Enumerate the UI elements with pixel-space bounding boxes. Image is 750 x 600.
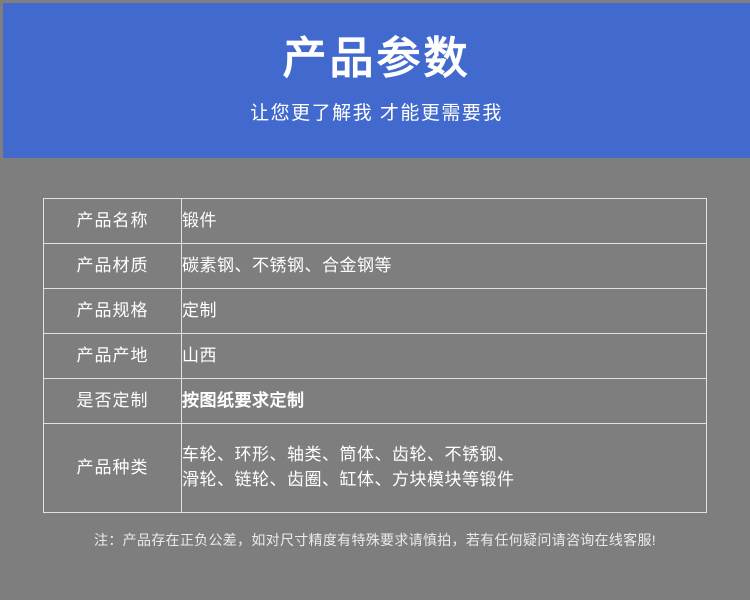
- spec-value-product-types: 车轮、环形、轴类、筒体、齿轮、不锈钢、 滑轮、链轮、齿圈、缸体、方块模块等锻件: [182, 424, 707, 513]
- table-row: 产品种类 车轮、环形、轴类、筒体、齿轮、不锈钢、 滑轮、链轮、齿圈、缸体、方块模…: [44, 424, 707, 513]
- page-title: 产品参数: [283, 35, 471, 83]
- spec-label-customizable: 是否定制: [44, 379, 182, 424]
- table-row: 是否定制 按图纸要求定制: [44, 379, 707, 424]
- spec-label-product-spec: 产品规格: [44, 289, 182, 334]
- value-line: 山西: [182, 344, 706, 369]
- value-line: 车轮、环形、轴类、筒体、齿轮、不锈钢、: [182, 443, 706, 468]
- spec-value-product-origin: 山西: [182, 334, 707, 379]
- footer-note: 注：产品存在正负公差，如对尺寸精度有特殊要求请慎拍，若有任何疑问请咨询在线客服!: [0, 531, 750, 551]
- spec-label-product-name: 产品名称: [44, 199, 182, 244]
- value-line: 定制: [182, 299, 706, 324]
- spec-label-product-origin: 产品产地: [44, 334, 182, 379]
- spec-table-body: 产品名称 锻件 产品材质 碳素钢、不锈钢、合金钢等 产品规格 定制: [44, 199, 707, 513]
- product-parameters-page: 产品参数 让您更了解我 才能更需要我 产品名称 锻件 产品材质 碳素钢、不锈钢、…: [0, 0, 750, 600]
- page-subtitle: 让您更了解我 才能更需要我: [250, 103, 503, 126]
- spec-value-product-name: 锻件: [182, 199, 707, 244]
- spec-table: 产品名称 锻件 产品材质 碳素钢、不锈钢、合金钢等 产品规格 定制: [43, 198, 707, 513]
- spec-label-product-material: 产品材质: [44, 244, 182, 289]
- spec-value-product-material: 碳素钢、不锈钢、合金钢等: [182, 244, 707, 289]
- table-row: 产品产地 山西: [44, 334, 707, 379]
- spec-value-customizable: 按图纸要求定制: [182, 379, 707, 424]
- spec-value-product-spec: 定制: [182, 289, 707, 334]
- spec-label-product-types: 产品种类: [44, 424, 182, 513]
- page-banner: 产品参数 让您更了解我 才能更需要我: [3, 3, 750, 158]
- table-row: 产品名称 锻件: [44, 199, 707, 244]
- table-row: 产品材质 碳素钢、不锈钢、合金钢等: [44, 244, 707, 289]
- value-line: 锻件: [182, 209, 706, 234]
- spec-table-container: 产品名称 锻件 产品材质 碳素钢、不锈钢、合金钢等 产品规格 定制: [43, 198, 707, 508]
- value-line: 碳素钢、不锈钢、合金钢等: [182, 254, 706, 279]
- value-line: 按图纸要求定制: [182, 389, 706, 414]
- table-row: 产品规格 定制: [44, 289, 707, 334]
- value-line: 滑轮、链轮、齿圈、缸体、方块模块等锻件: [182, 468, 706, 493]
